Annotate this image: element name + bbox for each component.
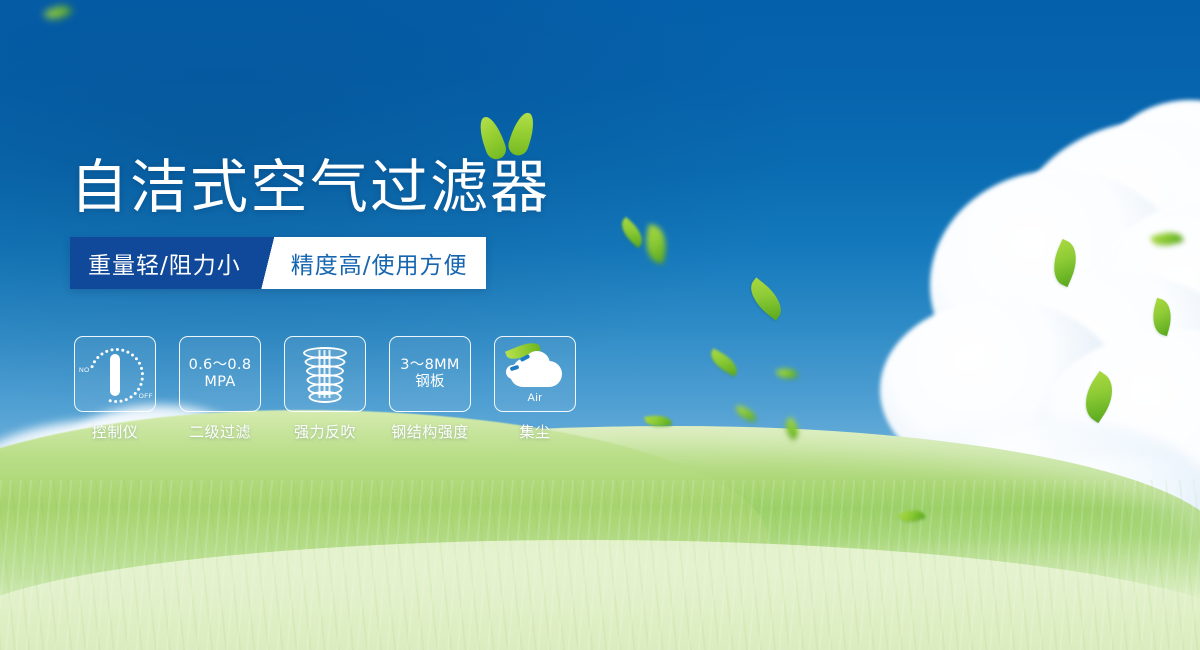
feature-label: 强力反吹 bbox=[284, 421, 366, 442]
feature-label: 控制仪 bbox=[74, 421, 156, 442]
feature-label: 钢结构强度 bbox=[389, 421, 471, 442]
feature-item-secondary-filter[interactable]: 0.6～0.8 MPA 二级过滤 bbox=[179, 336, 261, 442]
feature-icon-box: Air bbox=[494, 336, 576, 412]
cloud-air-icon: Air bbox=[504, 347, 566, 401]
feature-item-dust-collection[interactable]: Air 集尘 bbox=[494, 336, 576, 442]
gauge-icon: NO OFF bbox=[84, 345, 146, 403]
steel-line1: 3～8MM bbox=[400, 357, 459, 373]
subtitle-right: 精度高/使用方便 bbox=[283, 237, 486, 289]
feature-item-controller[interactable]: NO OFF 控制仪 bbox=[74, 336, 156, 442]
feature-icon-box: 3～8MM 钢板 bbox=[389, 336, 471, 412]
gauge-label-off: OFF bbox=[139, 393, 153, 400]
steel-line2: 钢板 bbox=[400, 374, 459, 391]
feature-label: 集尘 bbox=[494, 421, 576, 442]
steel-text-icon: 3～8MM 钢板 bbox=[400, 357, 459, 391]
page-title: 自洁式空气过滤器 bbox=[70, 140, 550, 224]
feature-icon-box: NO OFF bbox=[74, 336, 156, 412]
pressure-text-icon: 0.6～0.8 MPA bbox=[189, 357, 252, 391]
feature-list: NO OFF 控制仪 0.6～0.8 MPA 二级过滤 bbox=[74, 336, 576, 442]
gauge-label-on: NO bbox=[79, 367, 90, 374]
subtitle-left: 重量轻/阻力小 bbox=[70, 237, 257, 289]
subtitle-bar: 重量轻/阻力小 精度高/使用方便 bbox=[70, 237, 486, 289]
feature-item-steel-strength[interactable]: 3～8MM 钢板 钢结构强度 bbox=[389, 336, 471, 442]
gauge-needle bbox=[110, 354, 120, 396]
feature-item-backblow[interactable]: 强力反吹 bbox=[284, 336, 366, 442]
feature-label: 二级过滤 bbox=[179, 421, 261, 442]
coil-icon bbox=[302, 346, 348, 402]
feature-icon-box: 0.6～0.8 MPA bbox=[179, 336, 261, 412]
air-label: Air bbox=[504, 392, 566, 404]
feature-icon-box bbox=[284, 336, 366, 412]
pressure-line1: 0.6～0.8 bbox=[189, 357, 252, 373]
pressure-line2: MPA bbox=[189, 374, 252, 391]
subtitle-divider bbox=[257, 237, 283, 289]
product-banner: 自洁式空气过滤器 重量轻/阻力小 精度高/使用方便 bbox=[0, 0, 1200, 650]
